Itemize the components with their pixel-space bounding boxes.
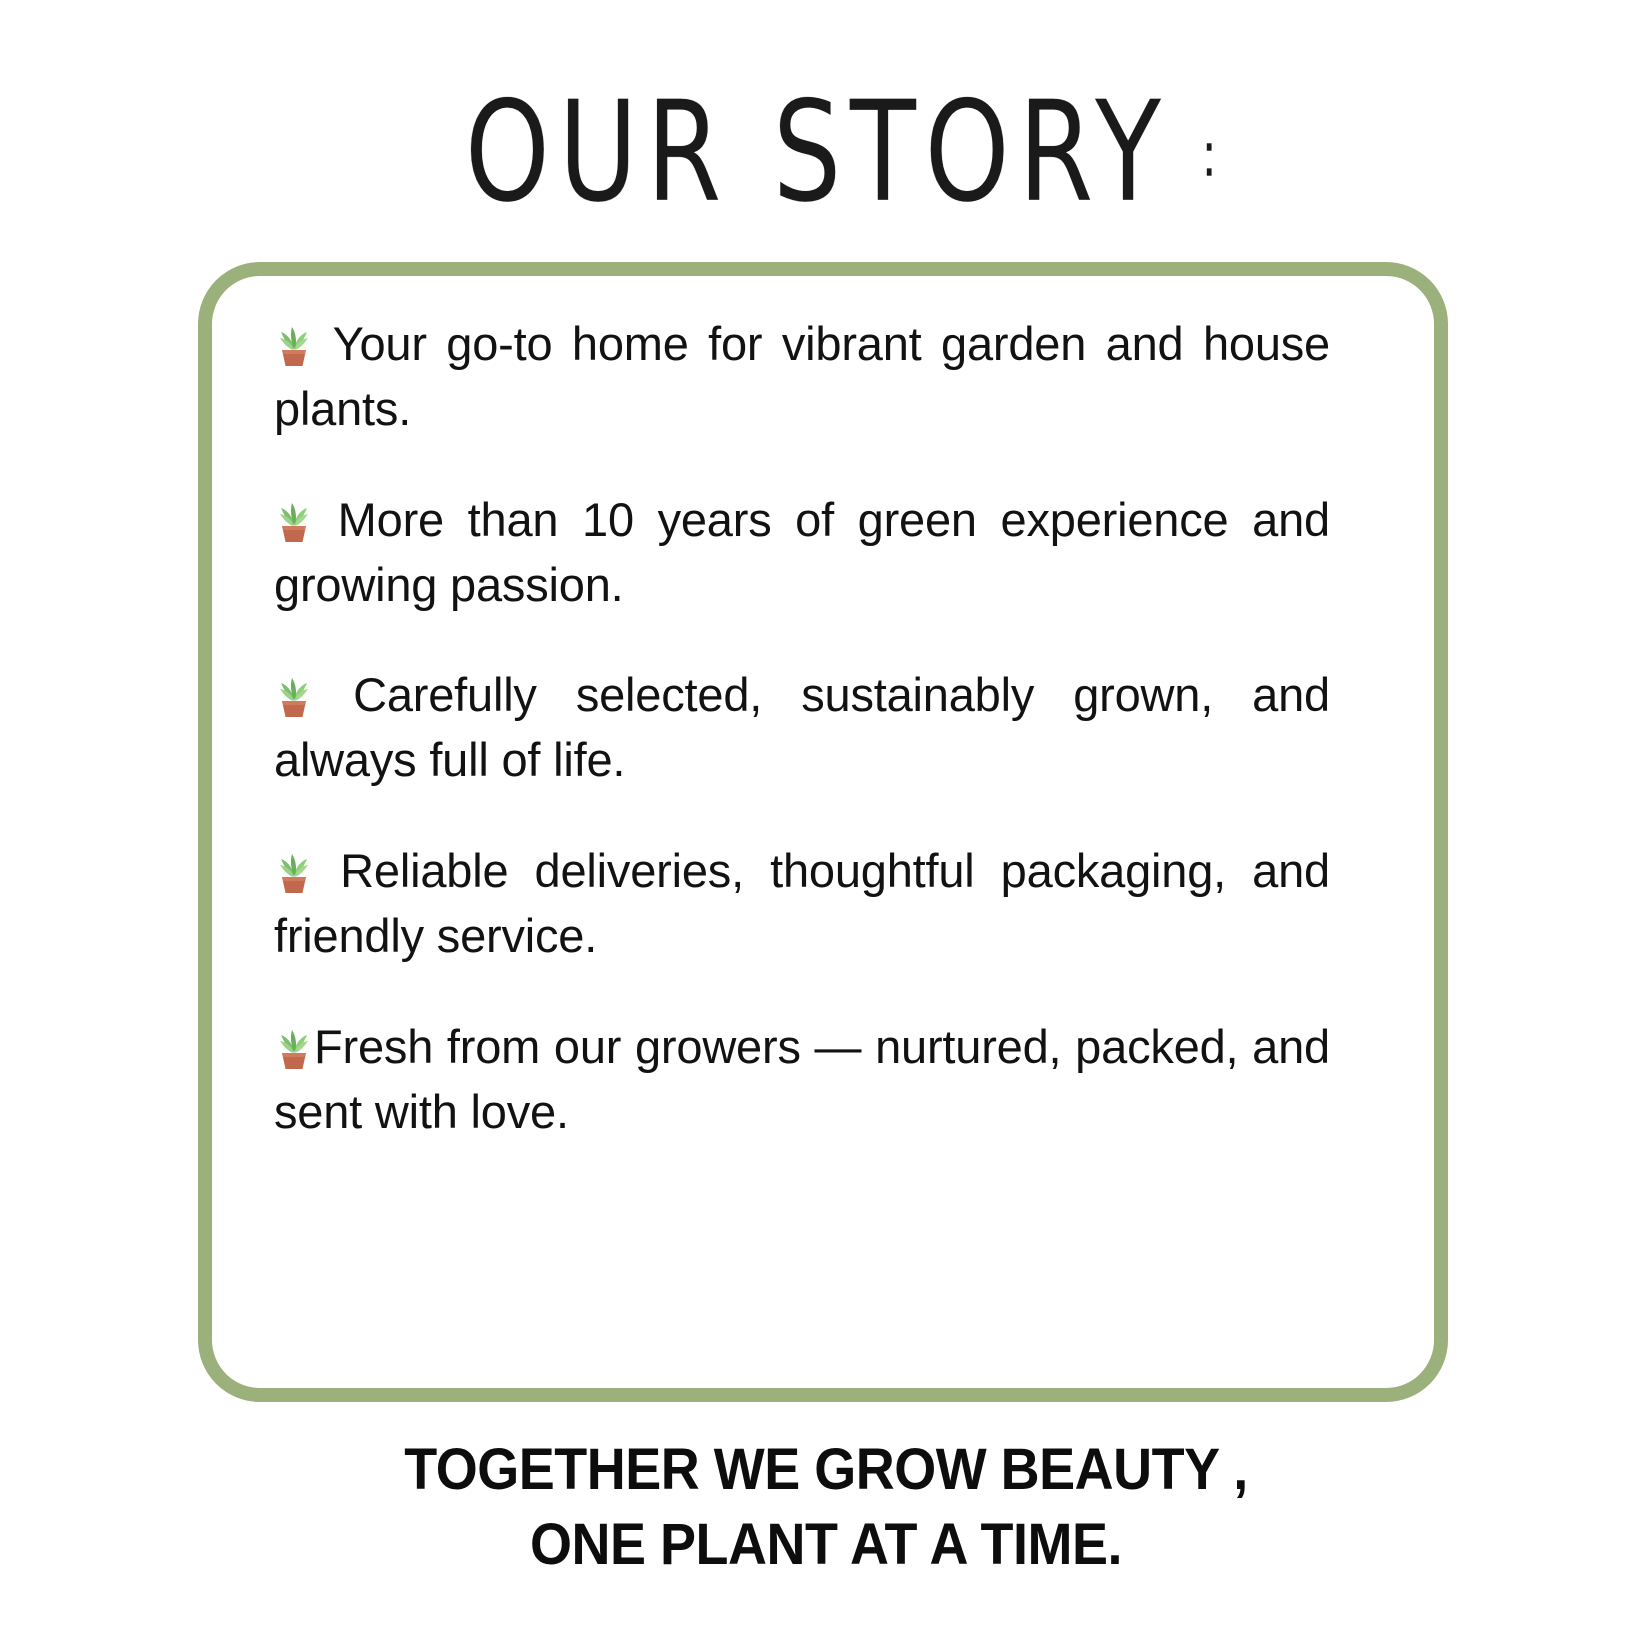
tagline-line-2: ONE PLANT AT A TIME.	[58, 1507, 1594, 1582]
potted-plant-icon	[274, 320, 314, 366]
potted-plant-icon	[274, 847, 314, 893]
list-item: Carefully selected, sustainably grown, a…	[274, 663, 1330, 793]
list-item-text: Your go-to home for vibrant garden and h…	[274, 317, 1330, 435]
story-card: Your go-to home for vibrant garden and h…	[198, 262, 1448, 1402]
list-item-text: Carefully selected, sustainably grown, a…	[274, 668, 1330, 786]
list-item: Fresh from our growers — nurtured, packe…	[274, 1015, 1330, 1145]
page-title: OUR STORY	[464, 82, 1169, 221]
tagline: TOGETHER WE GROW BEAUTY , ONE PLANT AT A…	[58, 1432, 1594, 1583]
story-card-content: Your go-to home for vibrant garden and h…	[274, 312, 1330, 1145]
potted-plant-icon	[274, 671, 314, 717]
tagline-line-1: TOGETHER WE GROW BEAUTY ,	[58, 1432, 1594, 1507]
potted-plant-icon	[274, 1023, 314, 1069]
potted-plant-icon	[274, 496, 314, 542]
list-item: More than 10 years of green experience a…	[274, 488, 1330, 618]
list-item: Reliable deliveries, thoughtful packagin…	[274, 839, 1330, 969]
list-item-text: Reliable deliveries, thoughtful packagin…	[274, 844, 1330, 962]
list-item-text: More than 10 years of green experience a…	[274, 493, 1330, 611]
our-story-poster: OUR STORY: Your go-to home for vibrant g…	[0, 0, 1652, 1652]
page-title-colon: :	[1201, 123, 1218, 187]
list-item: Your go-to home for vibrant garden and h…	[274, 312, 1330, 442]
list-item-text: Fresh from our growers — nurtured, packe…	[274, 1020, 1330, 1138]
page-title-wrapper: OUR STORY:	[0, 82, 1652, 200]
